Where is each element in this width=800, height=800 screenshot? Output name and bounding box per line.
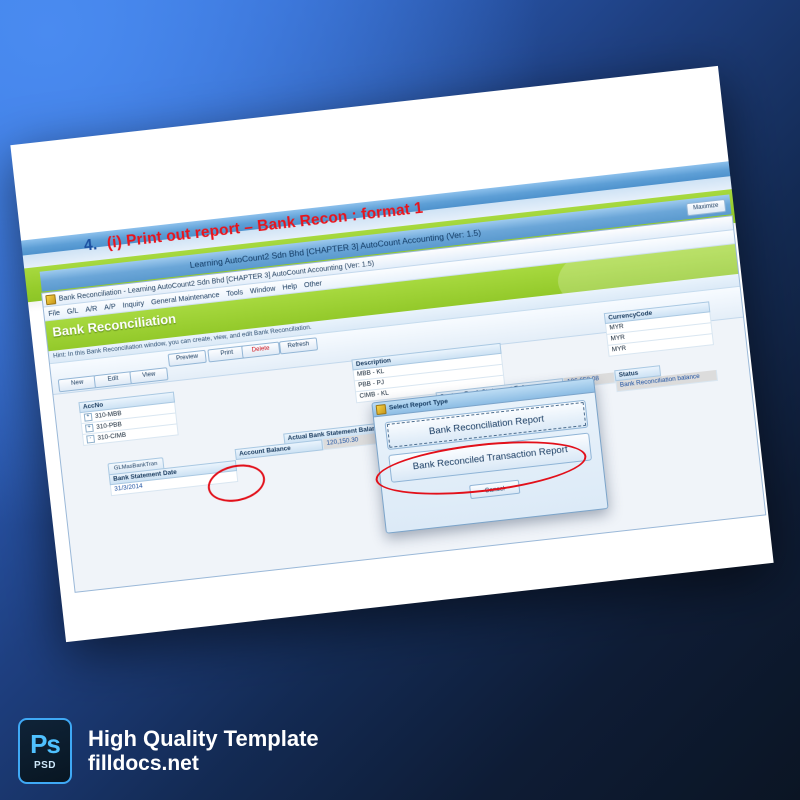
cell-accno: 310-CIMB [97,432,126,442]
column-header-account-balance: Account Balance [235,439,324,460]
refresh-button[interactable]: Refresh [279,337,318,354]
edit-button[interactable]: Edit [94,371,133,388]
psd-icon-psd-label: PSD [34,760,56,771]
canvas: 4.(i) Print out report – Bank Recon : fo… [0,0,800,800]
dialog-title-text: Select Report Type [389,398,449,412]
cell-accno: 310-PBB [96,421,122,431]
watermark-line-1: High Quality Template [88,727,319,752]
new-button[interactable]: New [58,375,97,392]
watermark-text: High Quality Template filldocs.net [88,727,319,775]
delete-button[interactable]: Delete [241,342,280,359]
select-report-type-dialog: Select Report Type Bank Reconciliation R… [371,378,608,534]
menu-item-other[interactable]: Other [303,278,322,289]
cell-accno: 310-MBB [95,410,122,420]
menu-item-help[interactable]: Help [282,281,298,292]
watermark: Ps PSD High Quality Template filldocs.ne… [18,718,319,784]
page-sheet: 4.(i) Print out report – Bank Recon : fo… [10,66,773,642]
menu-item-gl[interactable]: G/L [66,306,79,316]
report-icon [376,404,387,415]
preview-button[interactable]: Preview [168,350,207,367]
menu-item-window[interactable]: Window [249,284,275,296]
menu-item-ar[interactable]: A/R [85,304,98,314]
annotation-number: 4. [83,236,98,254]
psd-file-icon: Ps PSD [18,718,72,784]
menu-item-file[interactable]: File [48,308,61,318]
menu-item-ap[interactable]: A/P [104,302,117,312]
psd-icon-ps-label: Ps [30,731,60,757]
cancel-button[interactable]: Cancel [469,480,520,499]
rotated-document-page: 4.(i) Print out report – Bank Recon : fo… [10,66,773,642]
menu-item-tools[interactable]: Tools [226,287,244,298]
expand-icon[interactable]: + [85,424,94,433]
expand-icon[interactable]: + [84,413,93,422]
app-icon [45,294,56,305]
menu-item-inquiry[interactable]: Inquiry [122,298,144,309]
view-button[interactable]: View [129,367,168,384]
collapse-icon[interactable]: - [86,435,95,444]
watermark-line-2: filldocs.net [88,752,319,776]
